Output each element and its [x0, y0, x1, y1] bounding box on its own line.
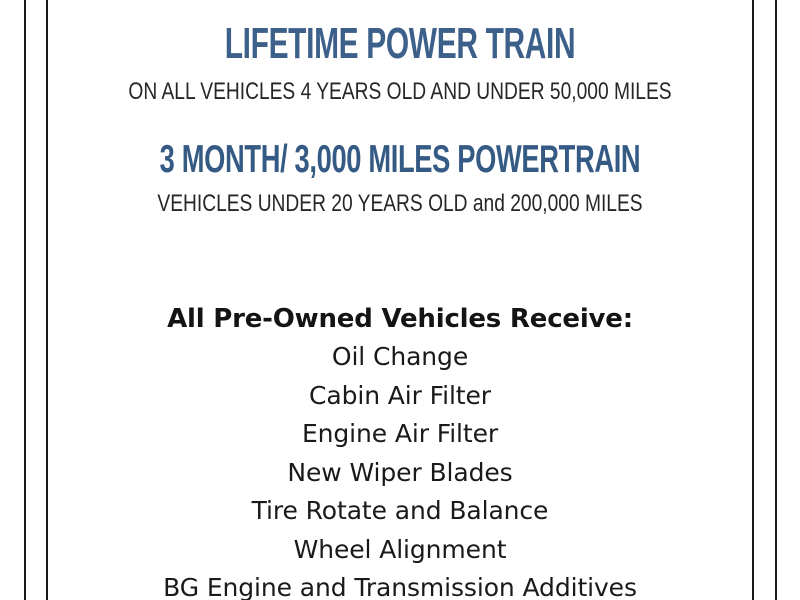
offer-subline-lifetime-power-train: ON ALL VEHICLES 4 YEARS OLD AND UNDER 50… [118, 80, 681, 104]
services-section: All Pre-Owned Vehicles Receive: Oil Chan… [48, 300, 752, 600]
right-inner-rule [752, 0, 754, 600]
flyer-content: LIFETIME POWER TRAIN ON ALL VEHICLES 4 Y… [48, 0, 752, 600]
service-list-item: Tire Rotate and Balance [48, 492, 752, 531]
service-list-item: Cabin Air Filter [48, 377, 752, 416]
right-outer-rule [775, 0, 777, 600]
flyer-canvas: LIFETIME POWER TRAIN ON ALL VEHICLES 4 Y… [0, 0, 800, 600]
services-heading: All Pre-Owned Vehicles Receive: [48, 300, 752, 338]
offer-headline-3-month-powertrain: 3 MONTH/ 3,000 MILES POWERTRAIN [154, 140, 647, 179]
service-list-item: Oil Change [48, 338, 752, 377]
left-outer-rule [24, 0, 26, 600]
service-list-item: New Wiper Blades [48, 454, 752, 493]
service-list-item: Engine Air Filter [48, 415, 752, 454]
services-list: Oil ChangeCabin Air FilterEngine Air Fil… [48, 338, 752, 600]
offer-headline-lifetime-power-train: LIFETIME POWER TRAIN [161, 22, 640, 66]
service-list-item: Wheel Alignment [48, 531, 752, 570]
offer-subline-3-month-powertrain: VEHICLES UNDER 20 YEARS OLD and 200,000 … [118, 192, 681, 216]
service-list-item: BG Engine and Transmission Additives [48, 569, 752, 600]
